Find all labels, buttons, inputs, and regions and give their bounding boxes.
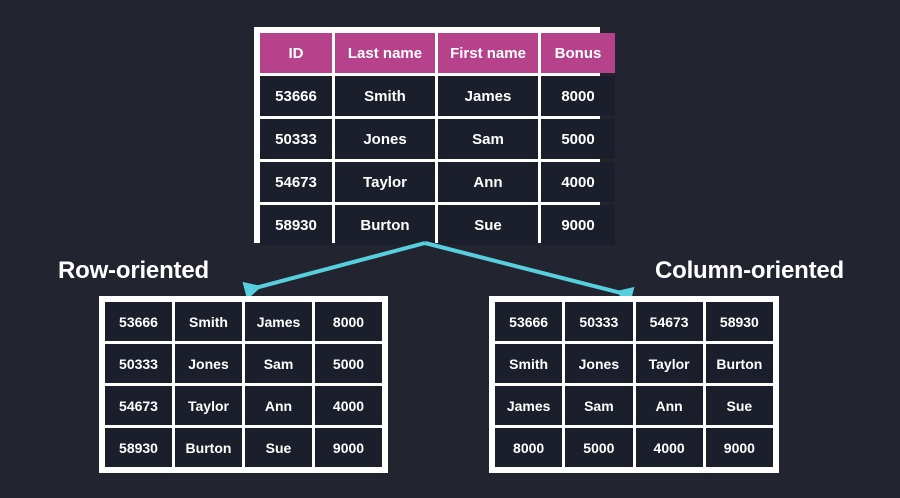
- table-cell: Jones: [175, 344, 242, 383]
- table-cell: 58930: [706, 302, 773, 341]
- column-header: First name: [438, 33, 538, 73]
- table-cell: Sue: [245, 428, 312, 467]
- source-table-grid: IDLast nameFirst nameBonus53666SmithJame…: [257, 30, 618, 248]
- table-cell: 4000: [315, 386, 382, 425]
- table-cell: Ann: [636, 386, 703, 425]
- table-cell: 54673: [260, 162, 332, 202]
- table-cell: 4000: [636, 428, 703, 467]
- table-cell: 5000: [565, 428, 632, 467]
- table-cell: Smith: [495, 344, 562, 383]
- table-row: 8000500040009000: [495, 428, 773, 467]
- diagram-canvas: IDLast nameFirst nameBonus53666SmithJame…: [0, 0, 900, 498]
- table-cell: 53666: [260, 76, 332, 116]
- table-cell: Taylor: [636, 344, 703, 383]
- row-oriented-table: 53666SmithJames800050333JonesSam50005467…: [99, 296, 388, 473]
- table-row: 53666SmithJames8000: [105, 302, 382, 341]
- table-row: 54673TaylorAnn4000: [105, 386, 382, 425]
- table-cell: 58930: [105, 428, 172, 467]
- table-cell: Burton: [335, 205, 435, 245]
- table-cell: James: [438, 76, 538, 116]
- table-cell: Smith: [335, 76, 435, 116]
- table-row: 58930BurtonSue9000: [260, 205, 615, 245]
- table-cell: 50333: [565, 302, 632, 341]
- table-cell: 5000: [541, 119, 615, 159]
- column-header: Last name: [335, 33, 435, 73]
- table-row: 53666503335467358930: [495, 302, 773, 341]
- table-row: 58930BurtonSue9000: [105, 428, 382, 467]
- table-cell: Sam: [565, 386, 632, 425]
- table-cell: Sam: [245, 344, 312, 383]
- arrow-to-column-oriented: [425, 243, 628, 295]
- table-cell: Ann: [245, 386, 312, 425]
- table-cell: 54673: [636, 302, 703, 341]
- source-table: IDLast nameFirst nameBonus53666SmithJame…: [254, 27, 600, 243]
- table-cell: Burton: [175, 428, 242, 467]
- column-oriented-caption: Column-oriented: [655, 257, 844, 285]
- table-row: SmithJonesTaylorBurton: [495, 344, 773, 383]
- column-header: ID: [260, 33, 332, 73]
- table-cell: 8000: [315, 302, 382, 341]
- column-header: Bonus: [541, 33, 615, 73]
- table-row: 54673TaylorAnn4000: [260, 162, 615, 202]
- table-cell: Taylor: [175, 386, 242, 425]
- table-cell: Sue: [438, 205, 538, 245]
- table-cell: James: [495, 386, 562, 425]
- column-oriented-grid: 53666503335467358930SmithJonesTaylorBurt…: [492, 299, 776, 470]
- column-oriented-table: 53666503335467358930SmithJonesTaylorBurt…: [489, 296, 779, 473]
- row-oriented-caption: Row-oriented: [58, 257, 209, 285]
- table-cell: 54673: [105, 386, 172, 425]
- table-cell: 8000: [541, 76, 615, 116]
- table-cell: 9000: [315, 428, 382, 467]
- table-row: JamesSamAnnSue: [495, 386, 773, 425]
- table-cell: James: [245, 302, 312, 341]
- table-cell: 58930: [260, 205, 332, 245]
- table-cell: 9000: [541, 205, 615, 245]
- table-cell: 50333: [260, 119, 332, 159]
- table-cell: Jones: [335, 119, 435, 159]
- table-header-row: IDLast nameFirst nameBonus: [260, 33, 615, 73]
- table-row: 50333JonesSam5000: [105, 344, 382, 383]
- table-cell: Sam: [438, 119, 538, 159]
- table-row: 50333JonesSam5000: [260, 119, 615, 159]
- table-cell: Taylor: [335, 162, 435, 202]
- table-row: 53666SmithJames8000: [260, 76, 615, 116]
- arrow-to-row-oriented: [249, 243, 425, 290]
- table-cell: Jones: [565, 344, 632, 383]
- table-cell: 4000: [541, 162, 615, 202]
- table-cell: Ann: [438, 162, 538, 202]
- table-cell: 9000: [706, 428, 773, 467]
- table-cell: 5000: [315, 344, 382, 383]
- table-cell: Smith: [175, 302, 242, 341]
- table-cell: Sue: [706, 386, 773, 425]
- row-oriented-grid: 53666SmithJames800050333JonesSam50005467…: [102, 299, 385, 470]
- table-cell: 8000: [495, 428, 562, 467]
- table-cell: Burton: [706, 344, 773, 383]
- table-cell: 53666: [105, 302, 172, 341]
- table-cell: 50333: [105, 344, 172, 383]
- table-cell: 53666: [495, 302, 562, 341]
